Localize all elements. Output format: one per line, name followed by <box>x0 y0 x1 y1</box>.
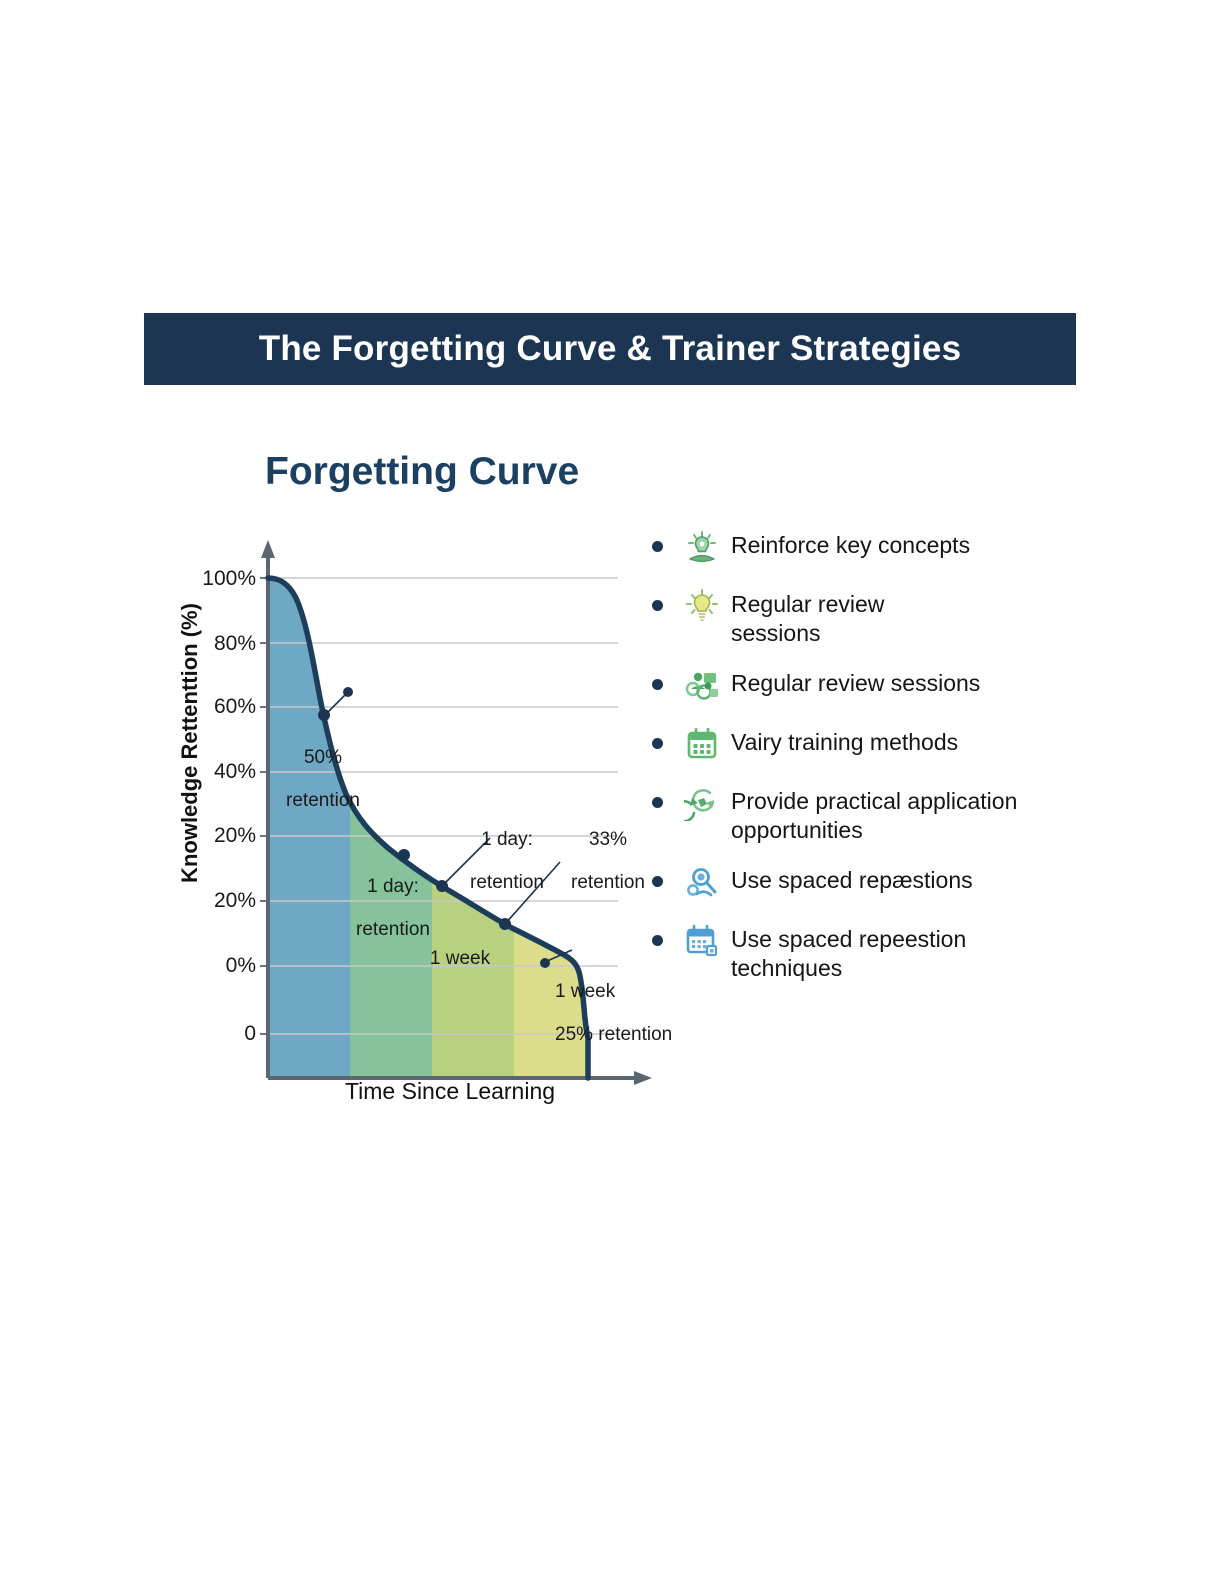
annotation-50-retention: 50% retention <box>268 726 378 811</box>
strategy-label: Use spaced repeestion techniques <box>731 922 966 984</box>
y-axis-arrow <box>261 540 275 558</box>
bullet-dot <box>652 935 663 946</box>
list-item[interactable]: Reinforce key concepts <box>652 528 1082 570</box>
list-item[interactable]: Use spaced repæstions <box>652 863 1082 905</box>
people-group-icon <box>684 667 720 703</box>
calendar-green-icon <box>684 726 720 762</box>
calendar-blue-icon <box>684 923 720 959</box>
annotation-1day-retention-b: 1 day: retention <box>452 808 562 893</box>
magnifier-person-icon <box>684 864 720 900</box>
list-item[interactable]: Vairy training methods <box>652 725 1082 767</box>
bullet-dot <box>652 876 663 887</box>
list-item[interactable]: Use spaced repeestion techniques <box>652 922 1082 984</box>
strategy-label: Vairy training methods <box>731 725 958 757</box>
strategy-label: Provide practical application opportunit… <box>731 784 1017 846</box>
bullet-dot <box>652 679 663 690</box>
forgetting-curve-chart: Forgetting Curve Knowledge Rettenttion (… <box>160 430 680 1120</box>
lightbulb-rays-icon <box>684 588 720 624</box>
x-axis-arrow <box>634 1071 652 1085</box>
annotation-1-week: 1 week <box>410 948 510 969</box>
list-item[interactable]: Provide practical application opportunit… <box>652 784 1082 846</box>
bullet-dot <box>652 797 663 808</box>
page-title: The Forgetting Curve & Trainer Strategie… <box>259 329 962 369</box>
bullet-dot <box>652 600 663 611</box>
annotation-1day-retention-a: 1 day: retention <box>338 855 448 940</box>
list-item[interactable]: Regular review sessions <box>652 587 1082 649</box>
strategy-label: Use spaced repæstions <box>731 863 973 895</box>
refresh-arrows-icon <box>684 785 720 821</box>
lightbulb-hands-icon <box>684 529 720 565</box>
title-banner: The Forgetting Curve & Trainer Strategie… <box>144 313 1076 385</box>
bullet-dot <box>652 541 663 552</box>
list-item[interactable]: Regular review sessions <box>652 666 1082 708</box>
strategy-label: Regular review sessions <box>731 587 884 649</box>
annotation-33-retention: 33% retention <box>548 808 668 893</box>
trainer-strategies-list: Reinforce key concepts <box>652 528 1082 1001</box>
strategy-label: Reinforce key concepts <box>731 528 970 560</box>
bullet-dot <box>652 738 663 749</box>
strategy-label: Regular review sessions <box>731 666 980 698</box>
